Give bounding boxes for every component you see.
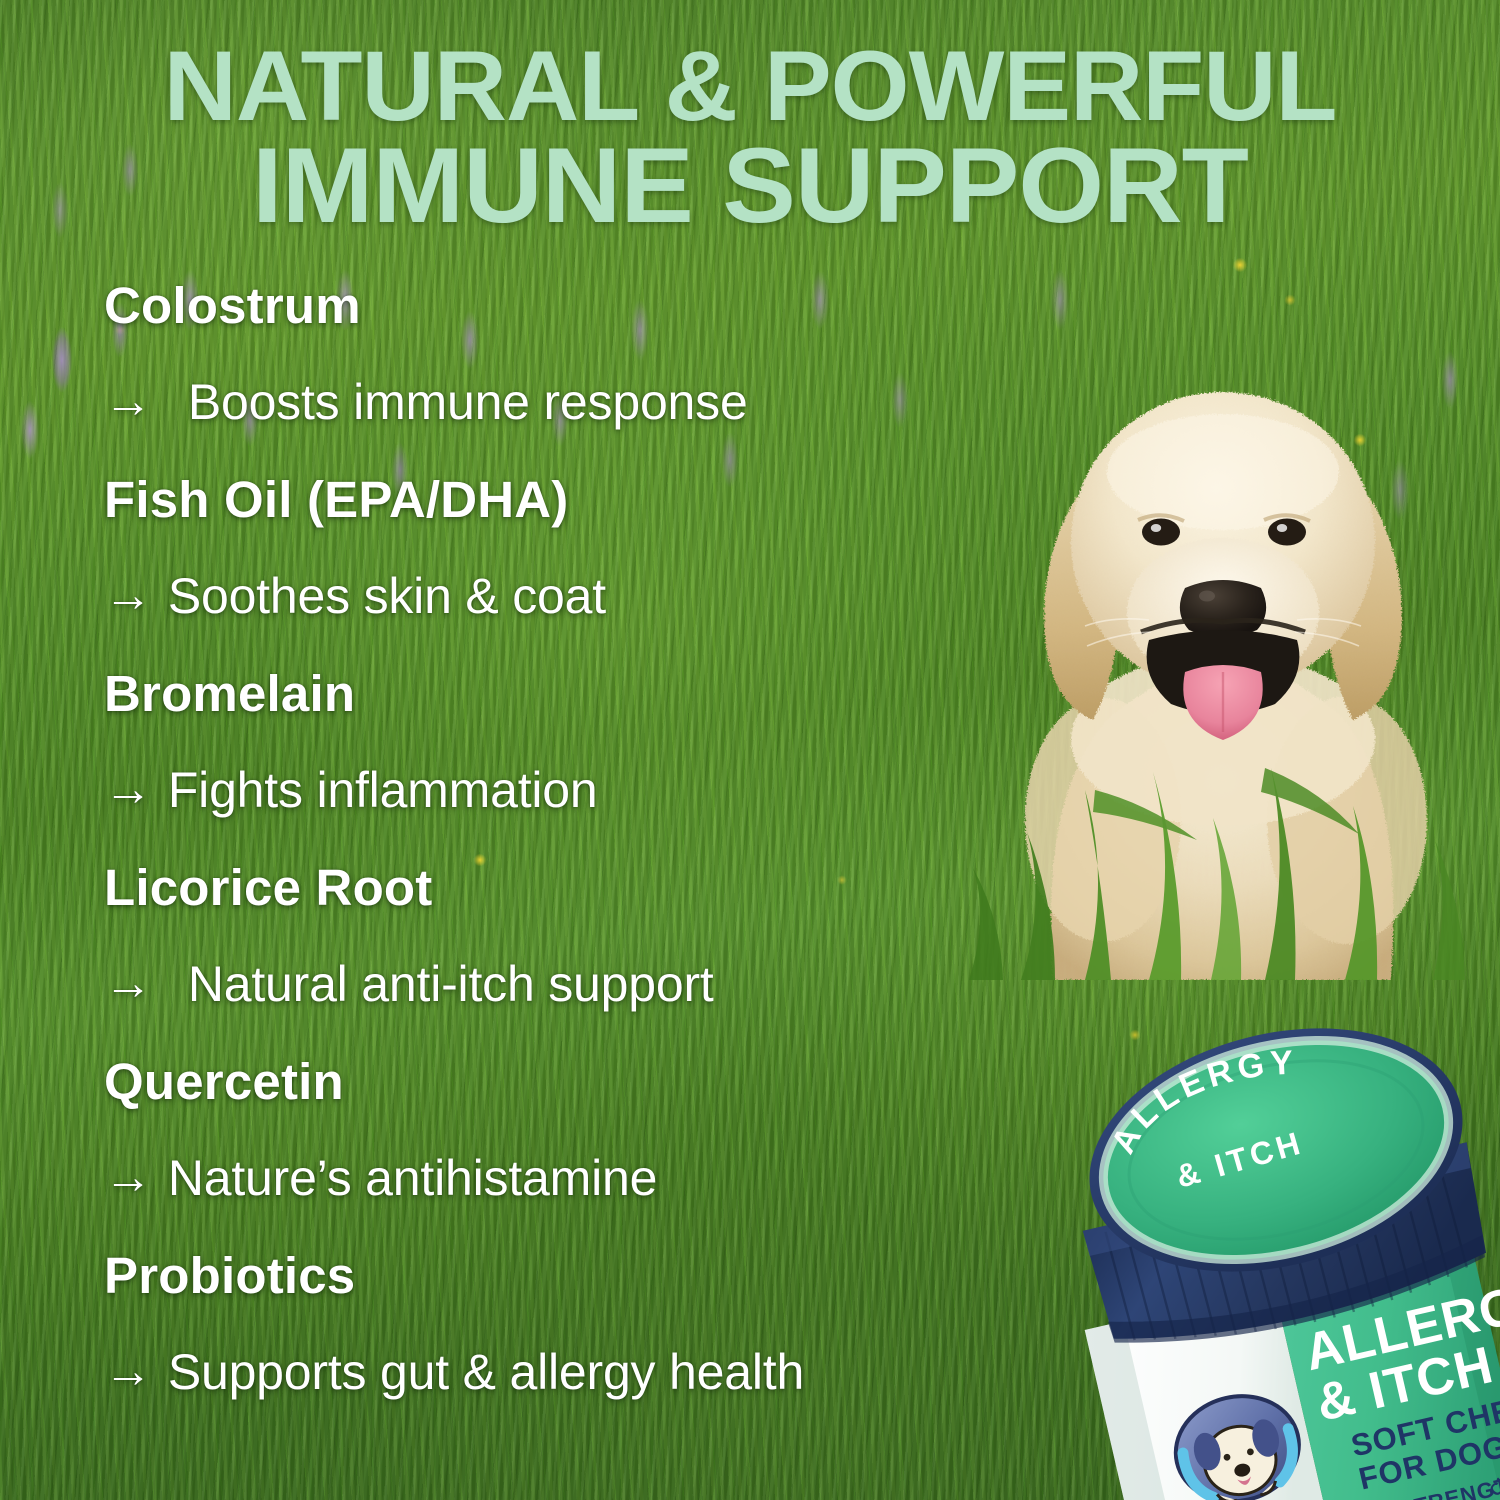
ingredient-benefit-text: Soothes skin & coat: [168, 571, 606, 621]
page-headline: NATURAL & POWERFUL IMMUNE SUPPORT: [0, 40, 1500, 236]
arrow-right-icon: →: [104, 1348, 152, 1396]
list-item: Quercetin → Nature’s antihistamine: [104, 1056, 1114, 1204]
headline-line-1: NATURAL & POWERFUL: [0, 40, 1500, 132]
ingredient-name: Bromelain: [104, 668, 1114, 719]
product-infographic: NATURAL & POWERFUL IMMUNE SUPPORT Colost…: [0, 0, 1500, 1500]
arrow-right-icon: →: [104, 572, 152, 620]
ingredient-name: Quercetin: [104, 1056, 1114, 1107]
ingredient-name: Licorice Root: [104, 862, 1114, 913]
list-item: Fish Oil (EPA/DHA) → Soothes skin & coat: [104, 474, 1114, 622]
ingredient-benefit-text: Nature’s antihistamine: [168, 1153, 657, 1203]
product-jar: ALLERGY & ITCH SOFT CHEWS FOR DOGS STREN…: [1062, 1032, 1500, 1500]
list-item: Licorice Root → Natural anti-itch suppor…: [104, 862, 1114, 1010]
ingredient-benefit: → Nature’s antihistamine: [104, 1153, 1114, 1204]
ingredient-benefit-text: Natural anti-itch support: [188, 959, 714, 1009]
arrow-right-icon: →: [104, 960, 152, 1008]
list-item: Bromelain → Fights inflammation: [104, 668, 1114, 816]
ingredient-benefit-text: Boosts immune response: [188, 377, 748, 427]
ingredient-benefit-text: Supports gut & allergy health: [168, 1347, 804, 1397]
arrow-right-icon: →: [104, 766, 152, 814]
headline-line-2: IMMUNE SUPPORT: [0, 136, 1500, 236]
ingredient-benefit: → Soothes skin & coat: [104, 571, 1114, 622]
ingredient-name: Colostrum: [104, 280, 1114, 331]
arrow-right-icon: →: [104, 378, 152, 426]
arrow-right-icon: →: [104, 1154, 152, 1202]
ingredient-benefit-text: Fights inflammation: [168, 765, 598, 815]
ingredient-benefit: → Fights inflammation: [104, 765, 1114, 816]
list-item: Colostrum → Boosts immune response: [104, 280, 1114, 428]
ingredient-name: Probiotics: [104, 1250, 1114, 1301]
ingredient-benefit: → Natural anti-itch support: [104, 959, 1114, 1010]
ingredient-benefit: → Boosts immune response: [104, 377, 1114, 428]
ingredient-benefit: → Supports gut & allergy health: [104, 1347, 1114, 1398]
list-item: Probiotics → Supports gut & allergy heal…: [104, 1250, 1114, 1398]
ingredient-name: Fish Oil (EPA/DHA): [104, 474, 1114, 525]
ingredient-benefit-list: Colostrum → Boosts immune response Fish …: [104, 280, 1114, 1444]
